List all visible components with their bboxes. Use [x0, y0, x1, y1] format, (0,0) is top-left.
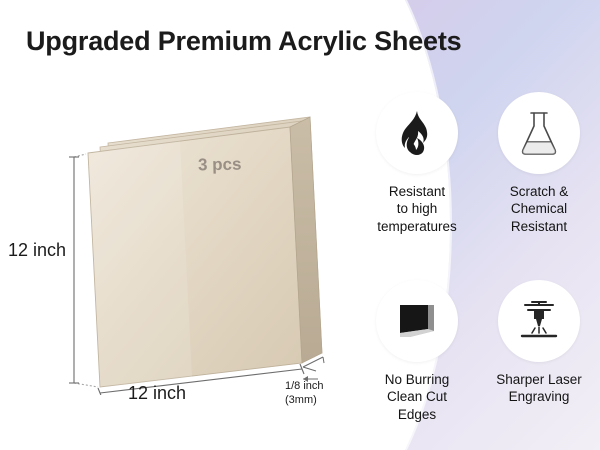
feature-label-line: Engraving [482, 388, 596, 405]
width-label: 12 inch [128, 383, 186, 404]
product-infographic: Upgraded Premium Acrylic Sheets [0, 0, 600, 450]
feature-heat-resistant: Resistant to high temperatures [360, 92, 474, 235]
laser-engraver-icon [516, 298, 562, 344]
flame-icon [397, 110, 437, 156]
quantity-badge: 3 pcs [198, 155, 242, 176]
feature-label-line: No Burring [360, 371, 474, 388]
feature-label-line: Edges [360, 406, 474, 423]
feature-label: Resistant to high temperatures [360, 183, 474, 235]
feature-label-line: Resistant [482, 218, 596, 235]
feature-label-line: Sharper Laser [482, 371, 596, 388]
sheet-front [88, 127, 302, 387]
clean-cut-sheet-icon [394, 299, 440, 343]
acrylic-sheets-illustration [60, 95, 350, 395]
flask-icon [517, 109, 561, 157]
thickness-label-line2: (3mm) [285, 394, 324, 408]
feature-label-line: Scratch & [482, 183, 596, 200]
feature-label: Scratch & Chemical Resistant [482, 183, 596, 235]
feature-icon-circle [376, 92, 458, 174]
feature-label-line: Chemical [482, 200, 596, 217]
feature-label: Sharper Laser Engraving [482, 371, 596, 406]
thickness-label-line1: 1/8 inch [285, 380, 324, 394]
feature-grid: Resistant to high temperatures Scratch & [360, 92, 596, 432]
feature-no-burring: No Burring Clean Cut Edges [360, 280, 474, 423]
height-label: 12 inch [8, 240, 66, 261]
feature-label: No Burring Clean Cut Edges [360, 371, 474, 423]
feature-icon-circle [376, 280, 458, 362]
feature-label-line: temperatures [360, 218, 474, 235]
feature-laser-engraving: Sharper Laser Engraving [482, 280, 596, 406]
feature-scratch-chemical-resistant: Scratch & Chemical Resistant [482, 92, 596, 235]
feature-label-line: Resistant [360, 183, 474, 200]
feature-icon-circle [498, 92, 580, 174]
page-title: Upgraded Premium Acrylic Sheets [26, 26, 586, 57]
thickness-label: 1/8 inch (3mm) [285, 380, 324, 408]
feature-icon-circle [498, 280, 580, 362]
feature-label-line: to high [360, 200, 474, 217]
feature-label-line: Clean Cut [360, 388, 474, 405]
